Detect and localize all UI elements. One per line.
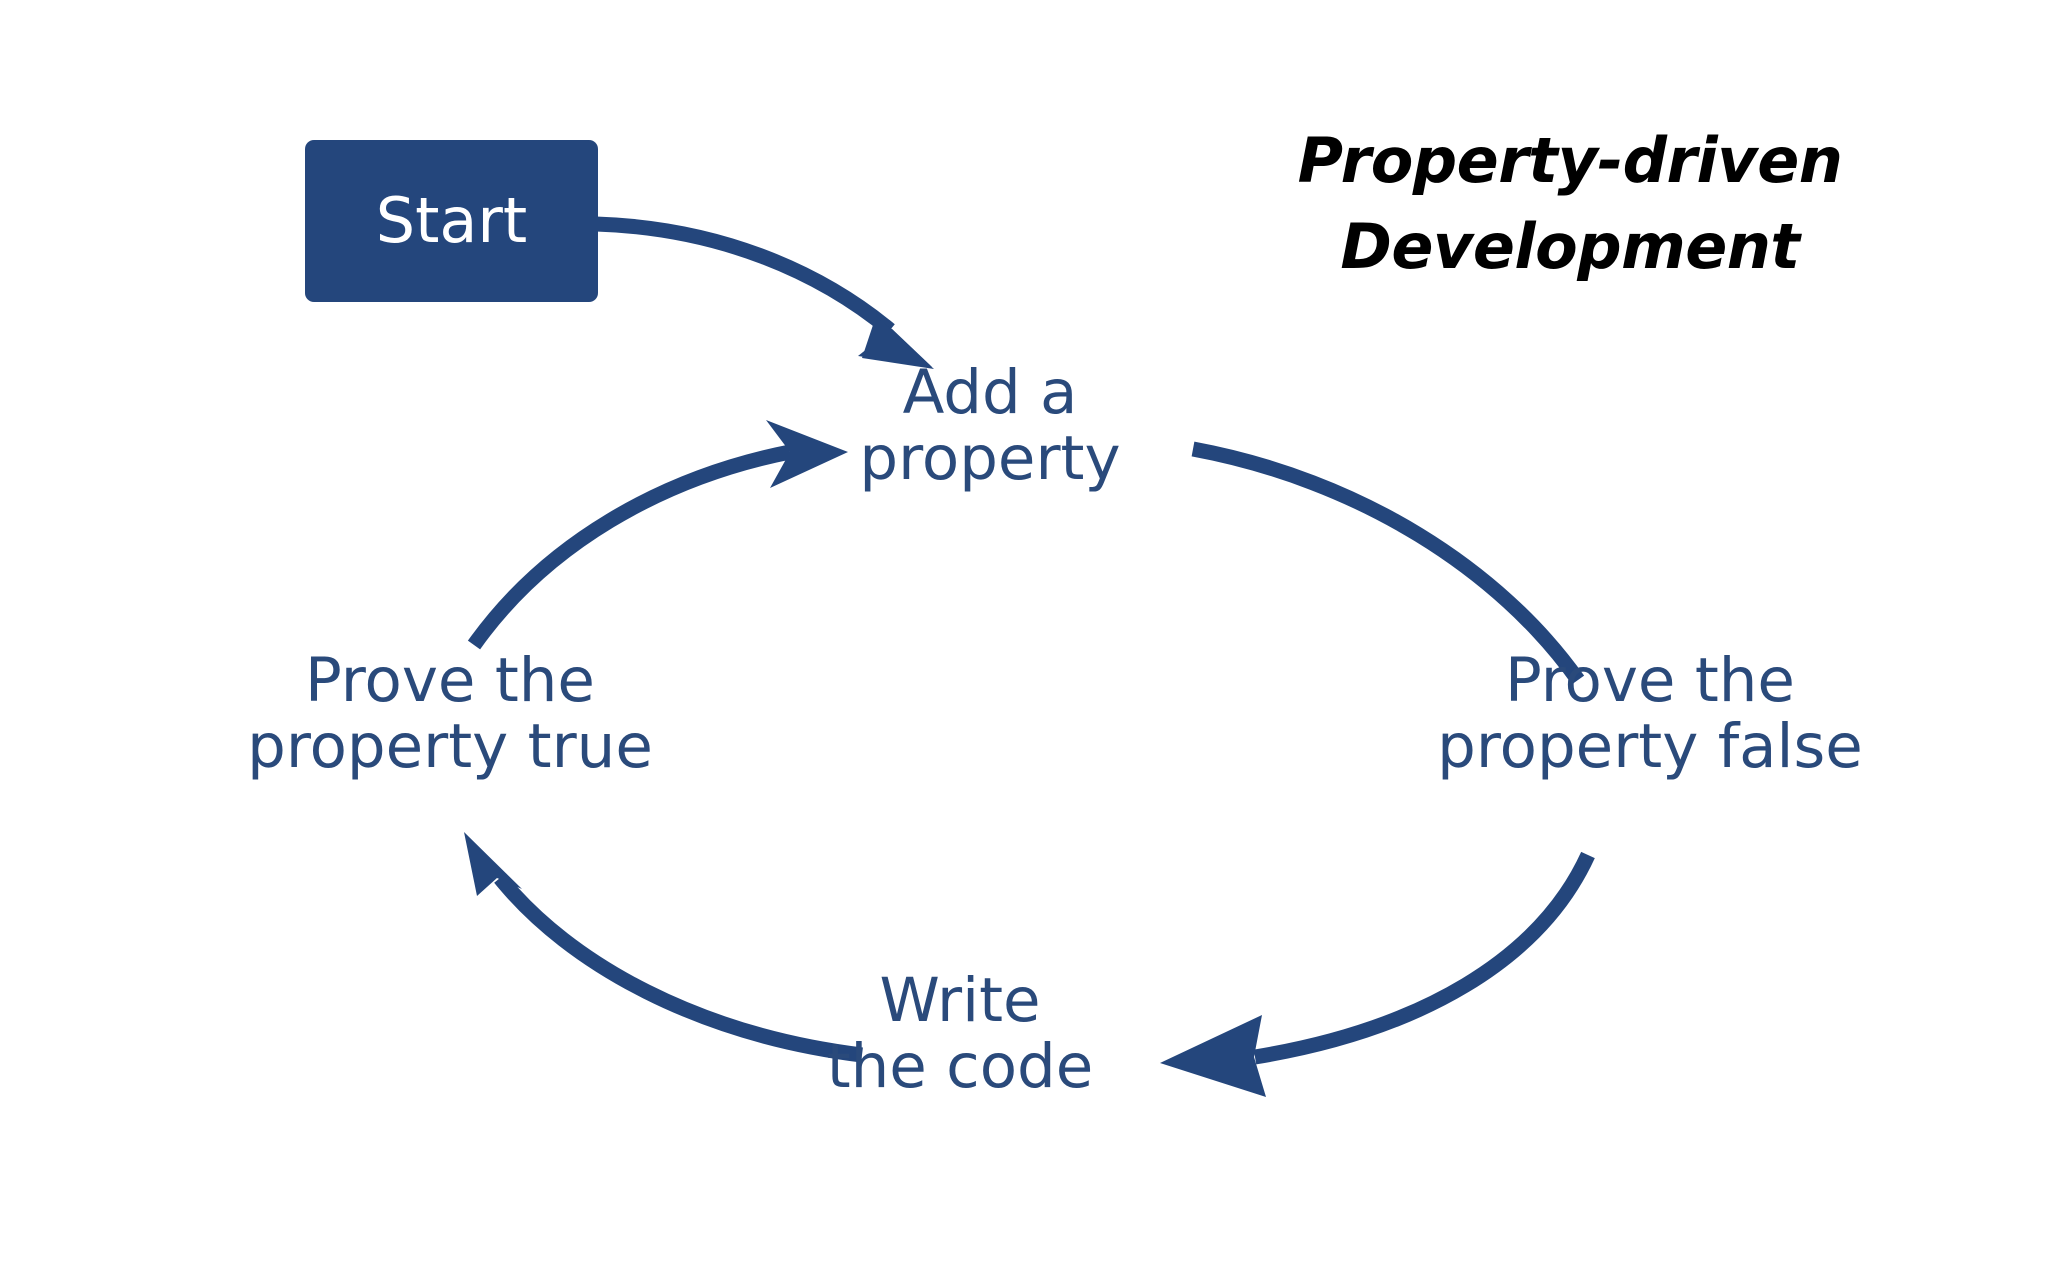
connector-prove-false-to-write-code <box>1160 855 1588 1097</box>
connector-add-property-to-prove-false <box>1193 449 1578 680</box>
arrowhead-prove-false-to-write-code <box>1160 1015 1266 1097</box>
diagram-canvas: Property-driven Development Start Add a … <box>0 0 2048 1263</box>
connector-prove-true-to-add-property <box>474 420 848 645</box>
connector-start-to-add-property <box>596 224 934 369</box>
start-node[interactable]: Start <box>305 140 598 302</box>
connector-write-code-to-prove-true <box>464 832 862 1055</box>
start-node-label: Start <box>376 190 527 252</box>
